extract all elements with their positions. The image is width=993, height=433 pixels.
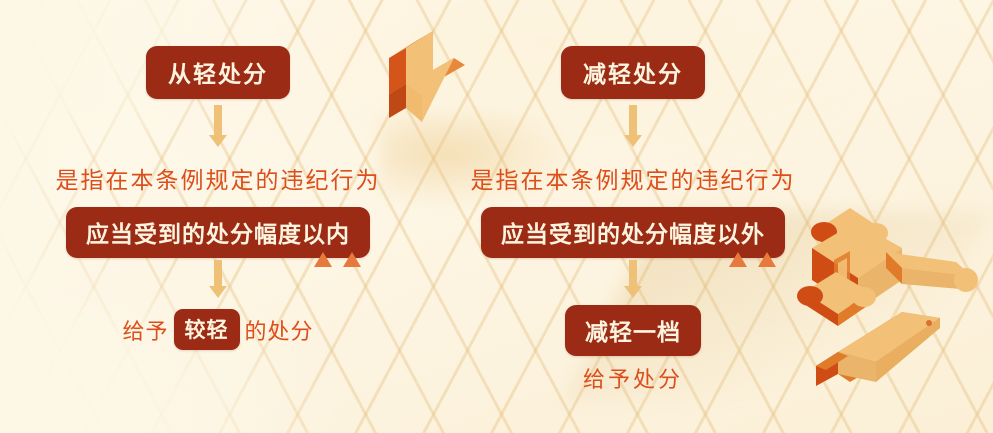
scope-badge-jianqing[interactable]: 应当受到的处分幅度以外 bbox=[481, 207, 785, 258]
result-line-congqing: 给予 较轻 的处分 bbox=[3, 309, 433, 350]
result-prefix-congqing: 给予 bbox=[122, 314, 168, 346]
scope-badge-congqing[interactable]: 应当受到的处分幅度以内 bbox=[66, 207, 370, 258]
result-caption-jianqing: 给予处分 bbox=[583, 368, 683, 393]
title-badge-jianqing[interactable]: 减轻处分 bbox=[561, 46, 705, 99]
column-congqing: 从轻处分 是指在本条例规定的违纪行为 应当受到的处分幅度以内 bbox=[3, 0, 433, 433]
connector-arrow-2-left bbox=[3, 260, 433, 298]
result-badge-congqing[interactable]: 较轻 bbox=[174, 309, 240, 350]
column-jianqing: 减轻处分 是指在本条例规定的违纪行为 应当受到的处分幅度以外 减轻一档 bbox=[418, 0, 848, 433]
connector-arrow-1-right bbox=[418, 105, 848, 147]
connector-arrow-1-left bbox=[3, 105, 433, 147]
infographic-canvas: 从轻处分 是指在本条例规定的违纪行为 应当受到的处分幅度以内 bbox=[0, 0, 993, 433]
result-suffix-congqing: 的处分 bbox=[245, 314, 314, 346]
result-badge-jianqing[interactable]: 减轻一档 bbox=[565, 305, 701, 356]
definition-text-congqing: 是指在本条例规定的违纪行为 bbox=[56, 168, 381, 194]
definition-text-jianqing: 是指在本条例规定的违纪行为 bbox=[471, 168, 796, 194]
title-badge-congqing[interactable]: 从轻处分 bbox=[146, 46, 290, 99]
connector-arrow-2-right bbox=[418, 260, 848, 298]
